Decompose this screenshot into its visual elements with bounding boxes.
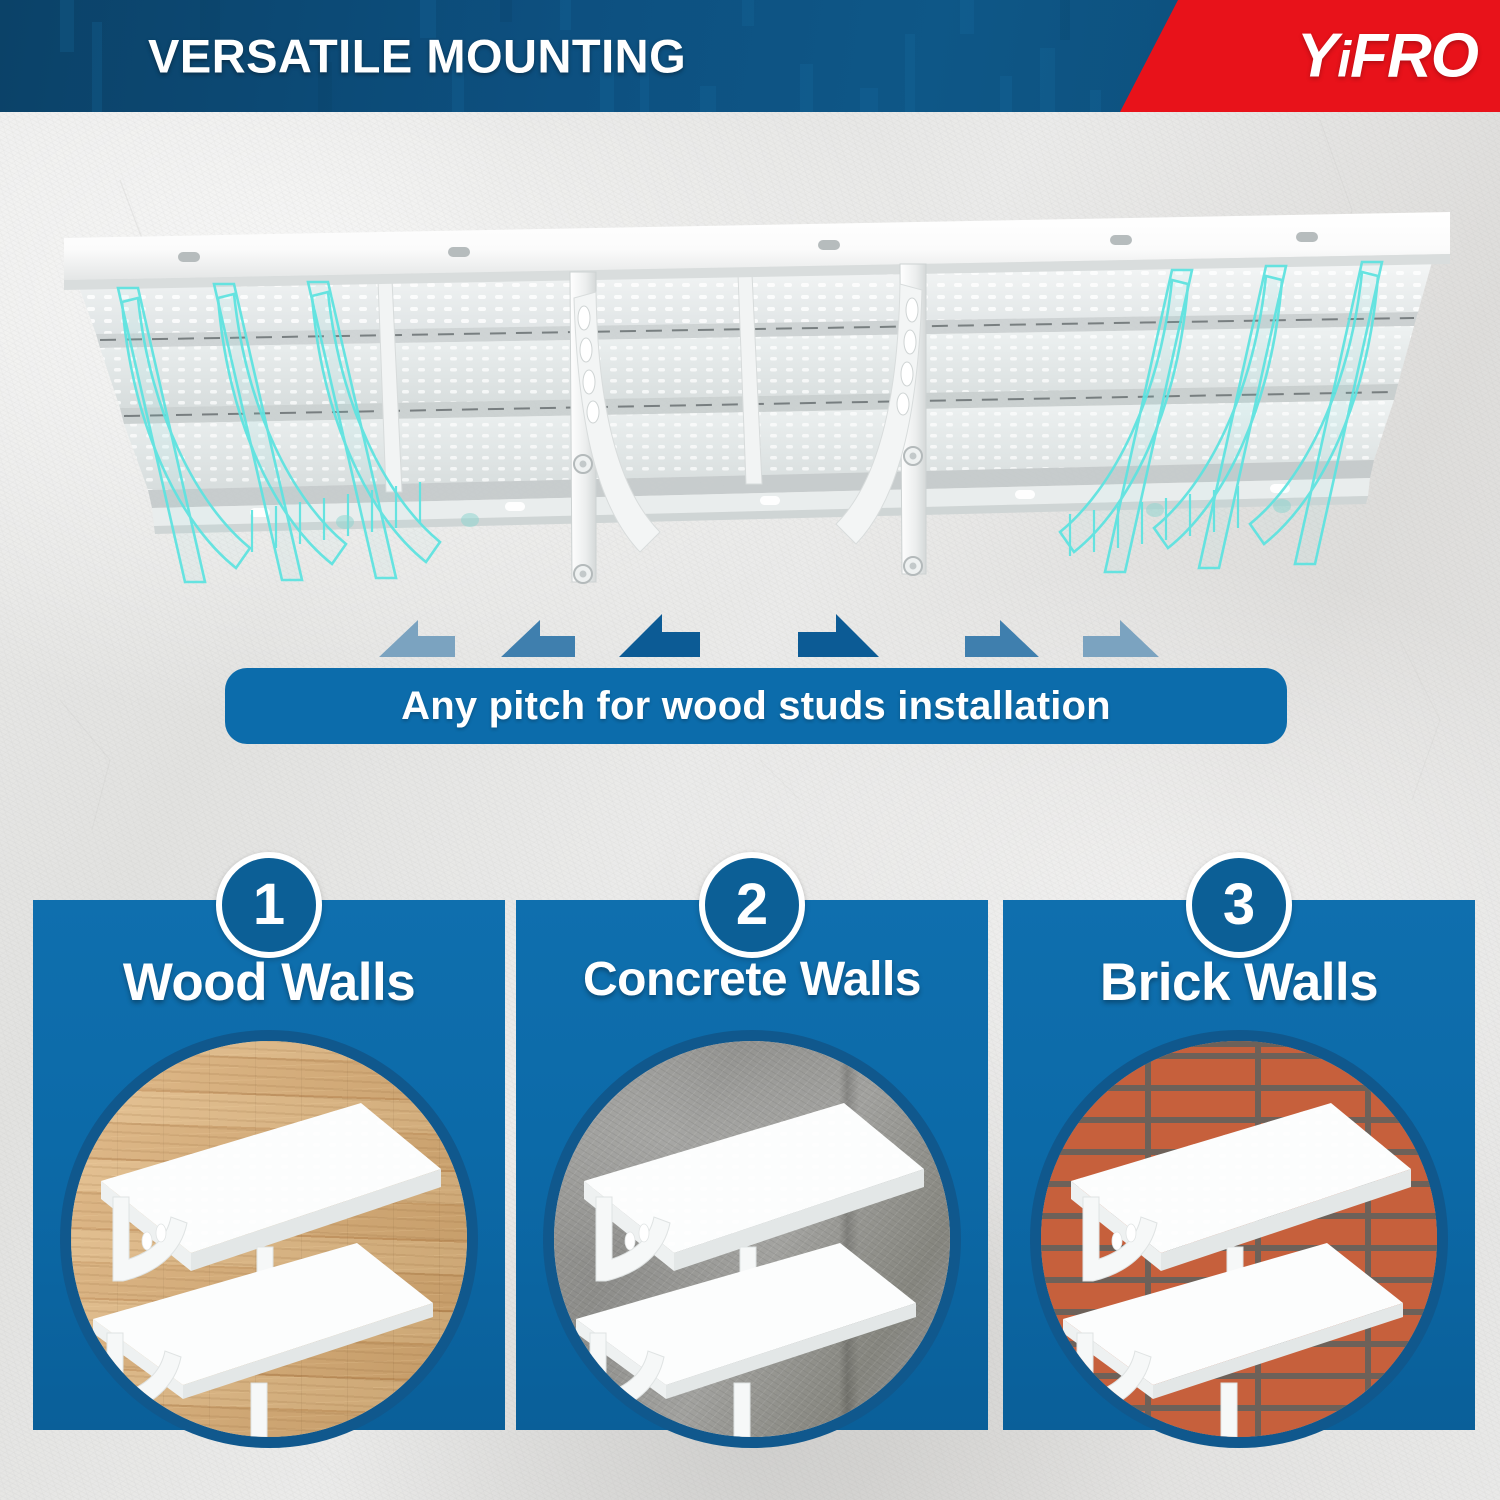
adjust-arrow-right-3 xyxy=(1083,620,1160,657)
adjust-arrow-left-1 xyxy=(618,614,700,657)
brand-logo-fro: FRO xyxy=(1350,22,1478,91)
card-title-wood: Wood Walls xyxy=(33,952,505,1013)
card-step-badge-2: 2 xyxy=(699,852,805,958)
card-step-badge-3: 3 xyxy=(1186,852,1292,958)
adjust-arrow-left-2 xyxy=(500,620,575,657)
shelf-photo-illustration-brick xyxy=(1041,1041,1437,1437)
feature-banner: Any pitch for wood studs installation xyxy=(225,668,1287,744)
card-title-brick: Brick Walls xyxy=(1003,952,1475,1013)
adjust-arrow-left-3 xyxy=(378,620,455,657)
wall-type-card-wood[interactable]: 1 Wood Walls xyxy=(33,900,505,1500)
shelf-photo-illustration-concrete xyxy=(554,1041,950,1437)
hero-shelf-illustration xyxy=(0,112,1500,657)
wall-type-card-concrete[interactable]: 2 Concrete Walls xyxy=(516,900,988,1500)
brand-logo-i: i xyxy=(1337,32,1350,88)
card-photo-concrete xyxy=(543,1030,961,1448)
card-photo-wood xyxy=(60,1030,478,1448)
header-bar: VERSATILE MOUNTING YiFRO xyxy=(0,0,1500,112)
wall-type-card-brick[interactable]: 3 Brick Walls xyxy=(1003,900,1475,1500)
card-title-concrete: Concrete Walls xyxy=(516,952,988,1007)
adjust-arrow-right-2 xyxy=(965,620,1040,657)
brand-logo-y: Y xyxy=(1297,22,1337,91)
brand-logo: YiFRO xyxy=(1297,21,1478,92)
card-step-badge-1: 1 xyxy=(216,852,322,958)
page-title: VERSATILE MOUNTING xyxy=(148,29,686,84)
shelf-photo-illustration-wood xyxy=(71,1041,467,1437)
adjust-arrow-right-1 xyxy=(798,614,880,657)
feature-banner-text: Any pitch for wood studs installation xyxy=(401,684,1111,729)
card-photo-brick xyxy=(1030,1030,1448,1448)
